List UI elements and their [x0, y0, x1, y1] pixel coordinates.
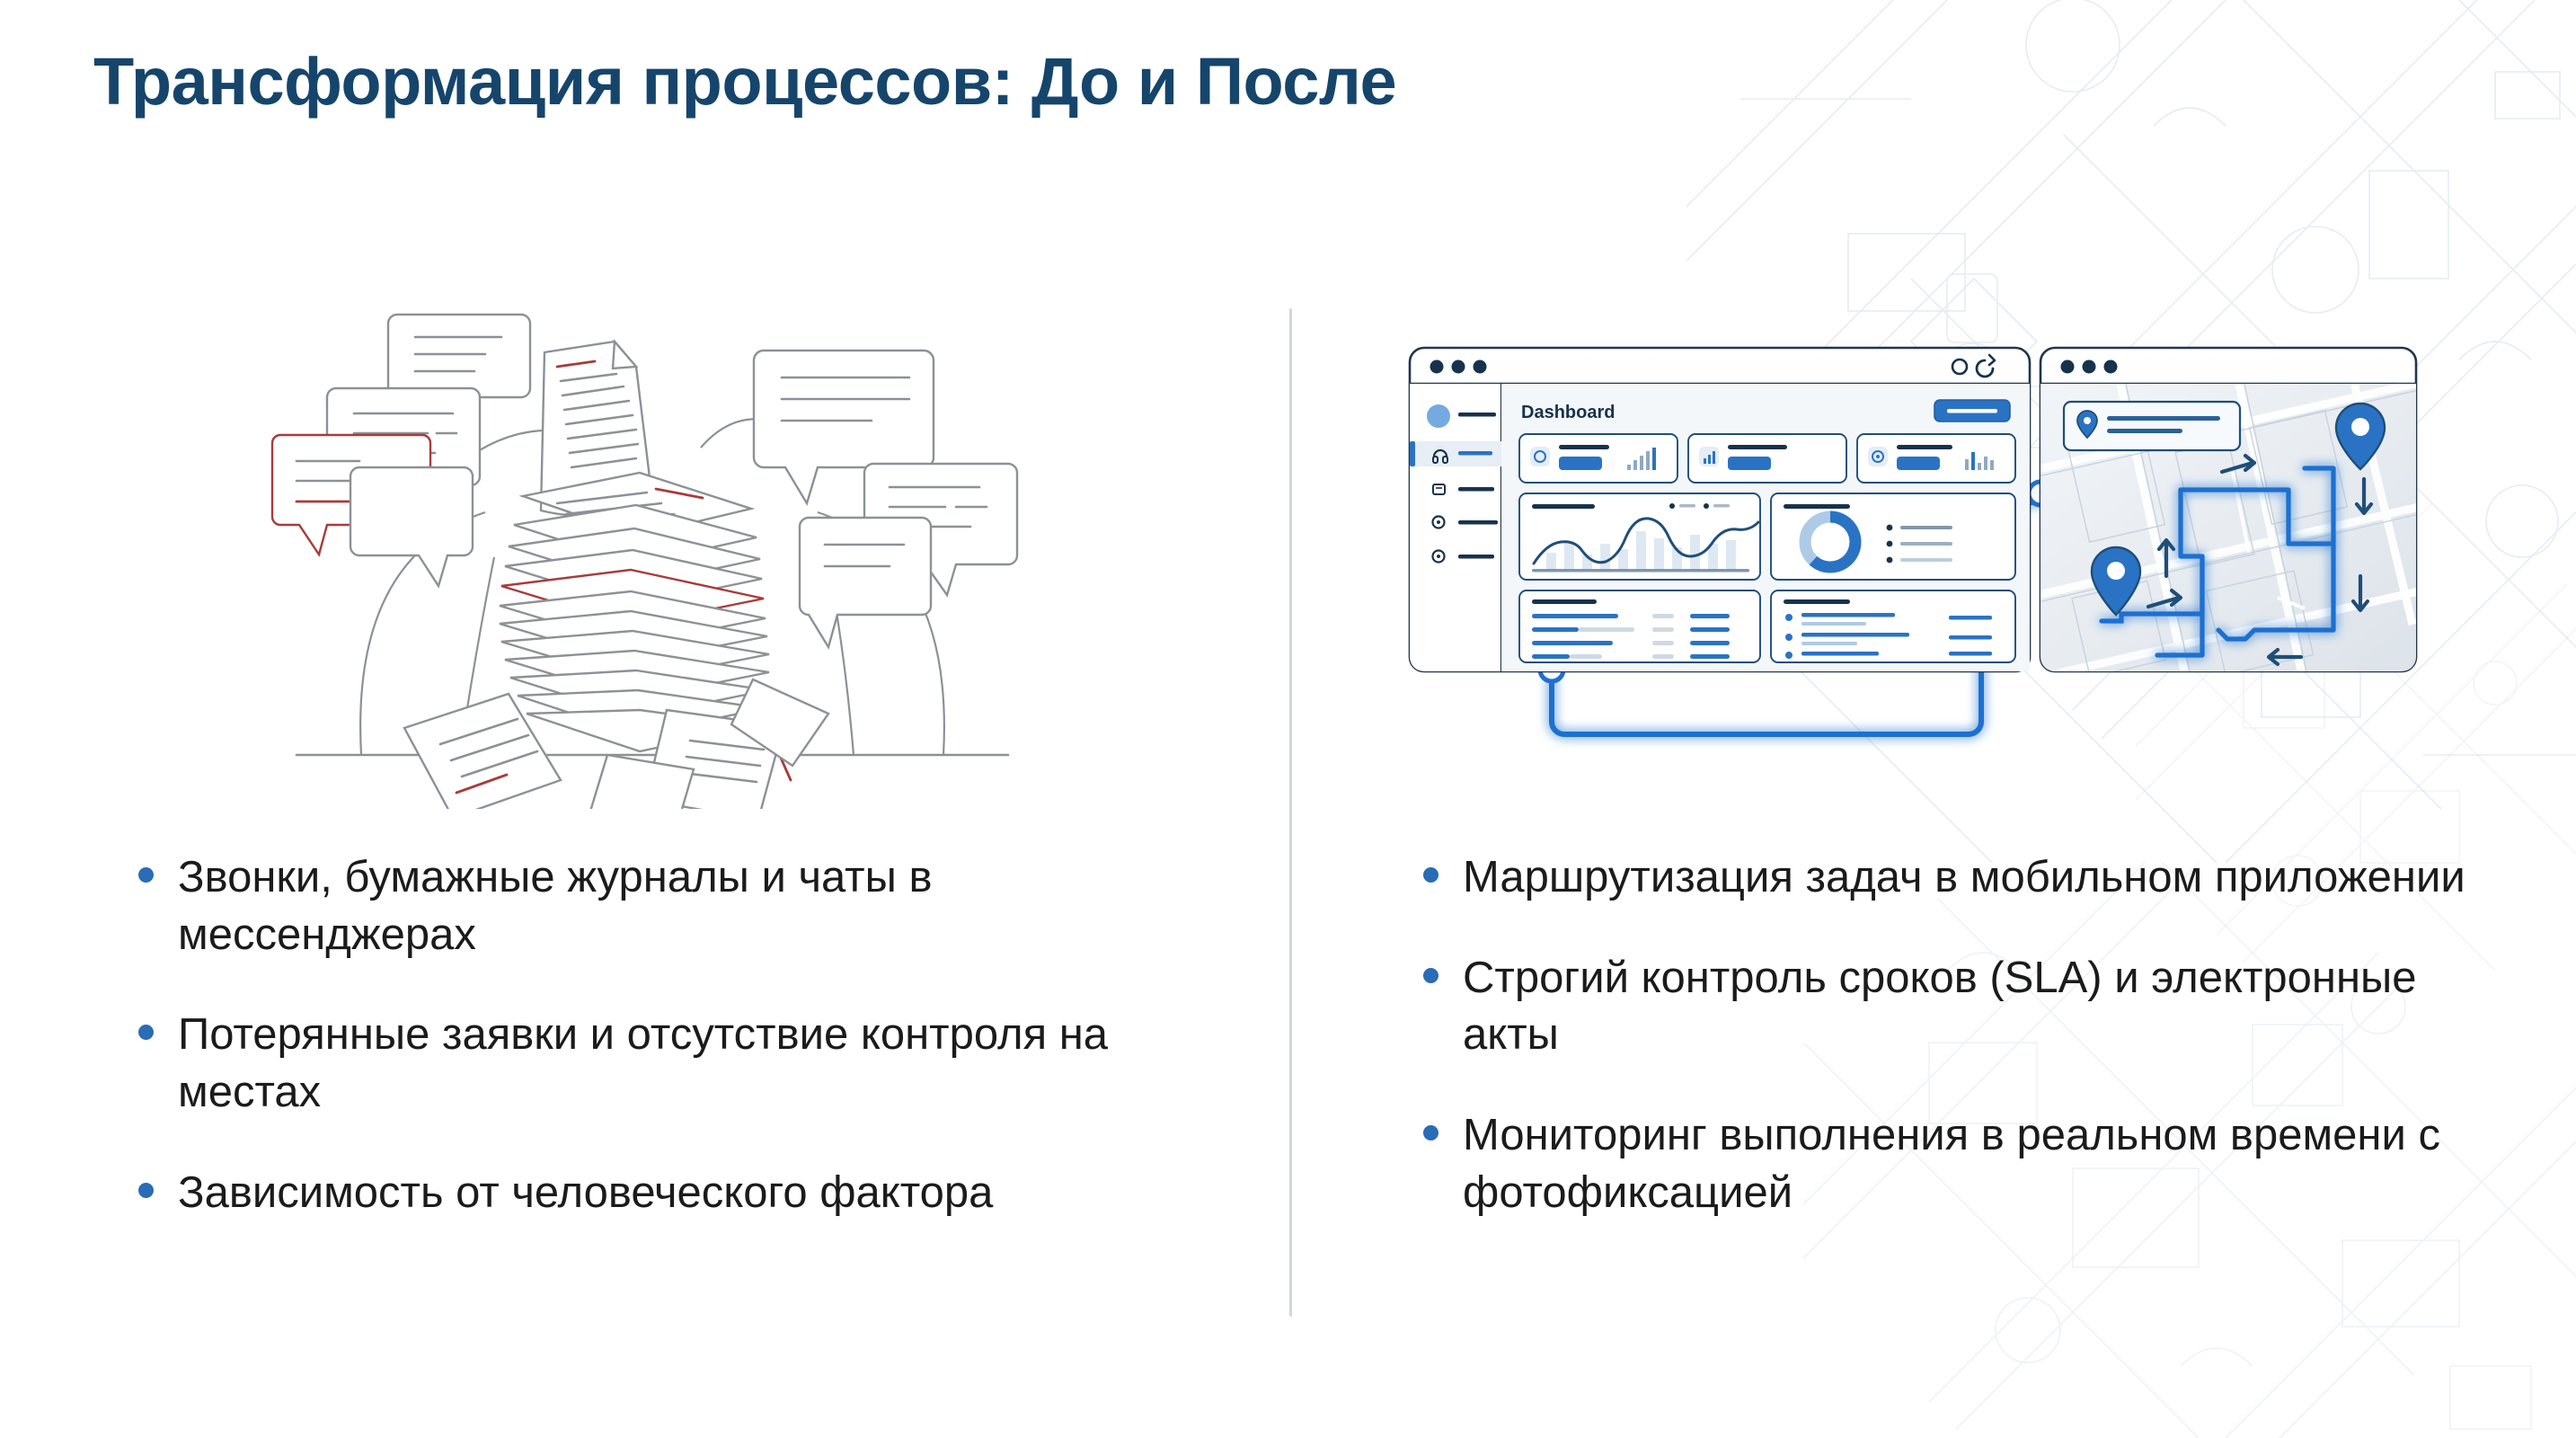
scattered-paper: [404, 694, 561, 809]
list-item-text: Зависимость от человеческого фактора: [178, 1168, 993, 1217]
dashboard-window: Dashboard: [1410, 348, 2030, 671]
stat-card: [1688, 434, 1846, 483]
sidebar-item-active: [1410, 441, 1501, 466]
list-item-text: Строгий контроль сроков (SLA) и электрон…: [1463, 954, 2417, 1060]
stat-card: [1857, 434, 2015, 483]
traffic-lights-icon: [2061, 360, 2118, 374]
bullet-dot-icon: [1423, 867, 1438, 883]
slide-root: Трансформация процессов: До и После .ln{…: [0, 0, 2576, 1438]
list-item: Строгий контроль сроков (SLA) и электрон…: [1411, 950, 2516, 1064]
list-item-text: Мониторинг выполнения в реальном времени…: [1463, 1111, 2440, 1217]
page-title: Трансформация процессов: До и После: [93, 43, 1396, 120]
list-item-text: Потерянные заявки и отсутствие контроля …: [178, 1010, 1108, 1116]
user-avatar: [1427, 404, 1450, 428]
dashboard-sidebar: [1410, 384, 1501, 671]
dashboard-main: Dashboard: [1501, 384, 2030, 671]
stat-card: [1519, 434, 1677, 483]
dashboard-and-map-illustration: .wframe{fill:url(#gWin);stroke:#20364c;s…: [1397, 328, 2520, 782]
list-item-text: Звонки, бумажные журналы и чаты в мессен…: [178, 853, 932, 959]
list-item: Маршрутизация задач в мобильном приложен…: [1411, 849, 2516, 907]
list-panel: [1771, 590, 2015, 662]
bullet-dot-icon: [1423, 968, 1438, 983]
map-search-bar: [2064, 402, 2240, 450]
chat-bubble: [350, 467, 473, 586]
paper-stack: [500, 473, 769, 751]
bullet-dot-icon: [1423, 1125, 1438, 1141]
list-item-text: Маршрутизация задач в мобильном приложен…: [1463, 853, 2465, 901]
chat-bubble: [800, 518, 931, 647]
bullet-dot-icon: [138, 1025, 154, 1040]
donut-chart-panel: [1771, 493, 2015, 580]
list-item: Потерянные заявки и отсутствие контроля …: [126, 1007, 1204, 1121]
traffic-lights-icon: [1430, 360, 1487, 374]
column-divider: [1289, 308, 1292, 1317]
list-item: Зависимость от человеческого фактора: [126, 1165, 1204, 1222]
map-window: [2026, 348, 2430, 688]
map-canvas: [2026, 355, 2430, 688]
line-chart-panel: [1519, 493, 1760, 580]
list-item: Звонки, бумажные журналы и чаты в мессен…: [126, 849, 1204, 963]
progress-table-panel: [1519, 590, 1760, 662]
bullet-dot-icon: [138, 1183, 154, 1198]
list-item: Мониторинг выполнения в реальном времени…: [1411, 1107, 2516, 1221]
dashboard-title: Dashboard: [1521, 403, 1615, 422]
primary-action-button: [1934, 400, 2010, 422]
bullet-dot-icon: [138, 867, 154, 883]
paper-stack-chat-bubbles-illustration: .ln{stroke:#8d9196;stroke-width:2.4;fill…: [261, 288, 1042, 809]
before-bullet-list: Звонки, бумажные журналы и чаты в мессен…: [126, 849, 1204, 1221]
after-bullet-list: Маршрутизация задач в мобильном приложен…: [1411, 849, 2516, 1221]
